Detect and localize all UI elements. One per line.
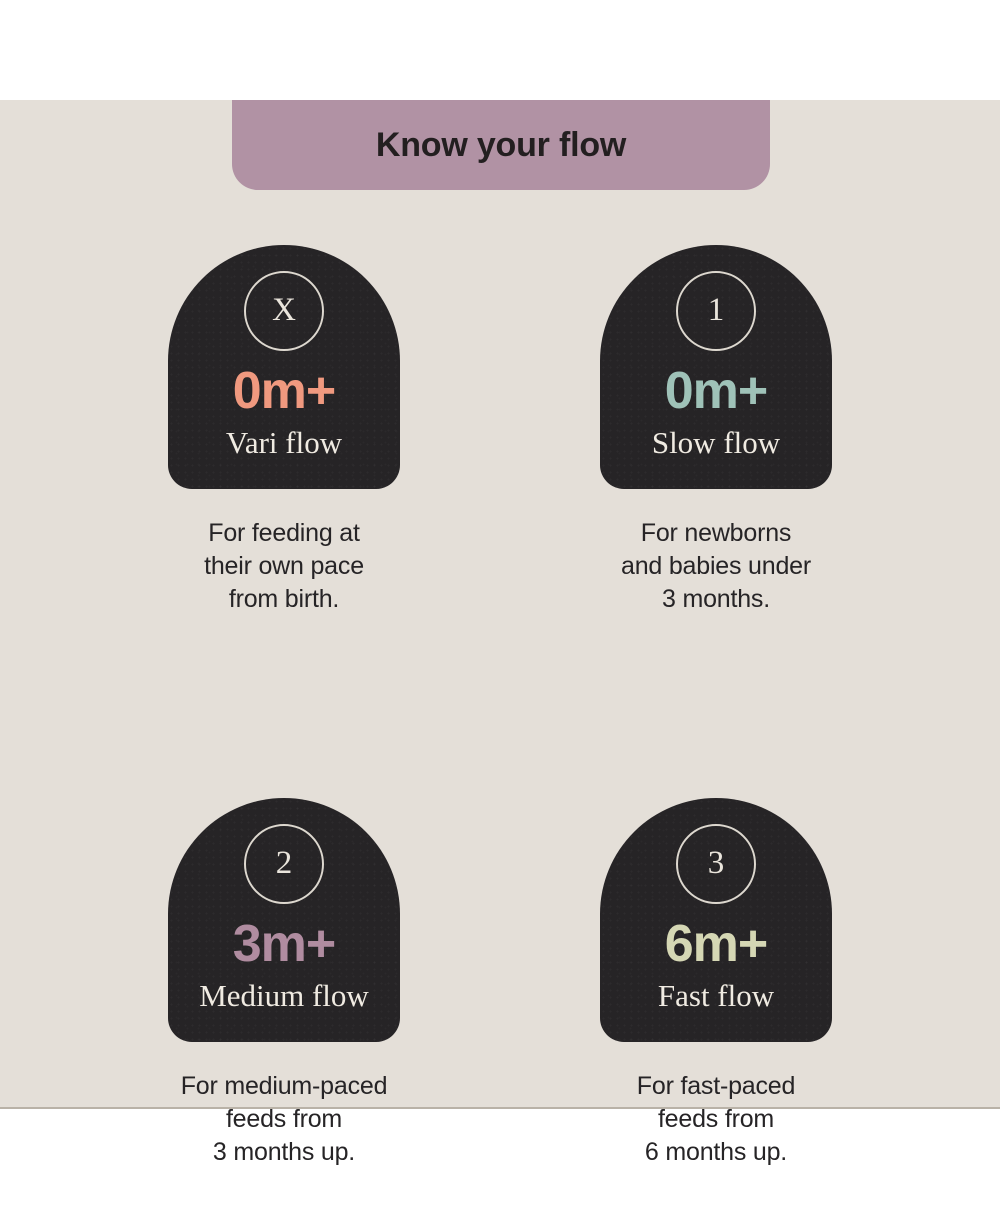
flow-age-label: 0m+	[665, 365, 768, 417]
page-title: Know your flow	[376, 128, 626, 162]
header-banner: Know your flow	[232, 100, 770, 190]
flow-number-label: 1	[708, 294, 725, 329]
caption-line: their own pace	[204, 550, 364, 583]
caption-line: For medium-paced	[181, 1070, 388, 1103]
flow-number-circle-icon: 3	[676, 824, 756, 904]
flow-caption-slow: For newborns and babies under 3 months.	[621, 517, 811, 616]
flow-badge-row-top: X 0m+ Vari flow For feeding at their own…	[0, 245, 1000, 616]
flow-caption-medium: For medium-paced feeds from 3 months up.	[181, 1070, 388, 1169]
flow-number-circle-icon: 1	[676, 271, 756, 351]
flow-card-vari[interactable]: X 0m+ Vari flow For feeding at their own…	[168, 245, 400, 616]
flow-card-slow[interactable]: 1 0m+ Slow flow For newborns and babies …	[600, 245, 832, 616]
flow-number-label: 3	[708, 847, 725, 882]
flow-name-label: Fast flow	[658, 980, 774, 1011]
flow-name-label: Vari flow	[226, 427, 342, 458]
flow-name-label: Medium flow	[199, 980, 369, 1011]
caption-line: from birth.	[204, 583, 364, 616]
know-your-flow-infographic: Know your flow X 0m+ Vari flow For feedi…	[0, 0, 1000, 1208]
flow-badge-slow: 1 0m+ Slow flow	[600, 245, 832, 489]
flow-number-label: 2	[276, 847, 293, 882]
flow-number-circle-icon: 2	[244, 824, 324, 904]
flow-number-label: X	[272, 294, 296, 329]
caption-line: 3 months up.	[181, 1136, 388, 1169]
flow-age-label: 6m+	[665, 918, 768, 970]
flow-badge-vari: X 0m+ Vari flow	[168, 245, 400, 489]
flow-badge-grid: X 0m+ Vari flow For feeding at their own…	[0, 245, 1000, 1169]
caption-line: For fast-paced	[637, 1070, 795, 1103]
flow-age-label: 0m+	[233, 365, 336, 417]
caption-line: 6 months up.	[637, 1136, 795, 1169]
flow-number-circle-icon: X	[244, 271, 324, 351]
flow-badge-fast: 3 6m+ Fast flow	[600, 798, 832, 1042]
caption-line: For feeding at	[204, 517, 364, 550]
flow-card-medium[interactable]: 2 3m+ Medium flow For medium-paced feeds…	[168, 798, 400, 1169]
caption-line: For newborns	[621, 517, 811, 550]
flow-badge-row-bottom: 2 3m+ Medium flow For medium-paced feeds…	[0, 798, 1000, 1169]
flow-card-fast[interactable]: 3 6m+ Fast flow For fast-paced feeds fro…	[600, 798, 832, 1169]
flow-name-label: Slow flow	[652, 427, 780, 458]
flow-caption-fast: For fast-paced feeds from 6 months up.	[637, 1070, 795, 1169]
flow-badge-medium: 2 3m+ Medium flow	[168, 798, 400, 1042]
caption-line: feeds from	[637, 1103, 795, 1136]
caption-line: 3 months.	[621, 583, 811, 616]
flow-caption-vari: For feeding at their own pace from birth…	[204, 517, 364, 616]
caption-line: feeds from	[181, 1103, 388, 1136]
caption-line: and babies under	[621, 550, 811, 583]
flow-age-label: 3m+	[233, 918, 336, 970]
